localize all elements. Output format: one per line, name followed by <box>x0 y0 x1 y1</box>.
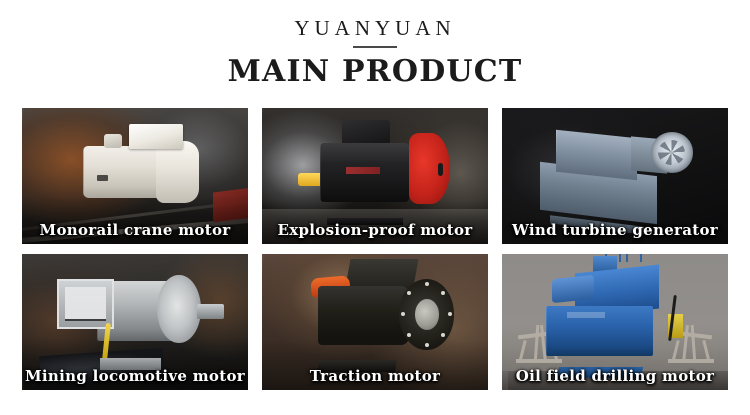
motor-illustration-black-red <box>298 122 456 220</box>
motor-cap-port <box>438 163 443 176</box>
generator-ribs <box>556 130 637 181</box>
generator-upper-housing <box>556 130 637 181</box>
motor-base-feet <box>100 358 160 370</box>
motor-end-flange <box>157 275 200 343</box>
motor-brand-label <box>346 167 381 175</box>
motor-end-housing <box>156 141 199 203</box>
motor-bolt <box>441 333 445 337</box>
motor-bolt <box>425 282 429 286</box>
product-card-explosion-proof-motor[interactable]: Explosion-proof motor <box>262 108 488 244</box>
motor-illustration-blue <box>543 262 692 371</box>
motor-terminal-box <box>129 124 183 149</box>
motor-output-shaft <box>197 304 224 318</box>
motor-bolt <box>441 291 445 295</box>
product-image-monorail-crane-motor <box>22 108 248 244</box>
motor-highlight-band <box>567 312 606 317</box>
motor-hub-plate <box>415 299 439 330</box>
lifting-eye-2 <box>626 254 642 262</box>
product-image-wind-turbine-generator <box>502 108 728 244</box>
motor-bolt <box>448 312 452 316</box>
motor-end-bell <box>399 279 454 349</box>
product-image-oil-field-drilling-motor <box>502 254 728 390</box>
page-header: YUANYUAN MAIN PRODUCT <box>0 0 750 100</box>
rail-line <box>22 216 248 244</box>
motor-bolt <box>401 312 405 316</box>
motor-base-frame <box>317 360 397 372</box>
product-image-traction-motor <box>262 254 488 390</box>
product-card-monorail-crane-motor[interactable]: Monorail crane motor <box>22 108 248 244</box>
generator-fan-cover <box>651 132 693 172</box>
motor-body <box>318 286 409 346</box>
motor-base-feet <box>327 218 403 226</box>
motor-red-end-cap <box>409 133 450 203</box>
motor-blower-unit <box>552 275 594 303</box>
motor-terminal-box <box>342 120 389 145</box>
main-product-banner: YUANYUAN MAIN PRODUCT Mo <box>0 0 750 415</box>
motor-illustration-grey <box>54 265 221 368</box>
terminal-strip-rows <box>65 287 106 322</box>
motor-illustration-dark-traction <box>298 265 461 368</box>
mine-cart-shape <box>213 187 248 222</box>
product-card-traction-motor[interactable]: Traction motor <box>262 254 488 390</box>
generator-illustration-blue-grey <box>534 124 697 225</box>
product-card-mining-locomotive-motor[interactable]: Mining locomotive motor <box>22 254 248 390</box>
product-card-oil-field-drilling-motor[interactable]: Oil field drilling motor <box>502 254 728 390</box>
motor-skid-base <box>556 367 642 378</box>
motor-nameplate <box>97 175 108 181</box>
motor-open-terminal-box <box>57 279 115 328</box>
motor-bolt <box>407 291 411 295</box>
page-title: MAIN PRODUCT <box>0 48 750 88</box>
product-grid: Monorail crane motor <box>22 108 728 390</box>
motor-illustration-white <box>72 127 208 211</box>
product-image-explosion-proof-motor <box>262 108 488 244</box>
motor-connector <box>104 134 122 148</box>
product-card-wind-turbine-generator[interactable]: Wind turbine generator <box>502 108 728 244</box>
product-image-mining-locomotive-motor <box>22 254 248 390</box>
brand-name: YUANYUAN <box>0 0 750 39</box>
motor-bolt <box>425 343 429 347</box>
motor-bolt <box>407 333 411 337</box>
